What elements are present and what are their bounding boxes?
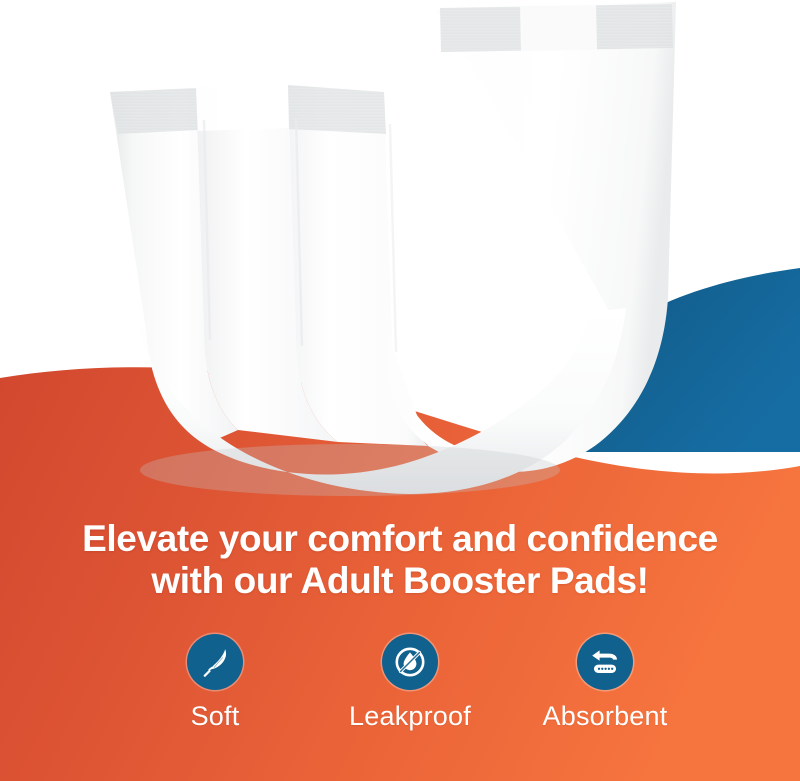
feature-leakproof-label: Leakproof [349, 703, 471, 730]
adhesive-strip-1 [110, 88, 198, 134]
adhesive-strip-3 [288, 85, 386, 134]
headline: Elevate your comfort and confidence with… [0, 518, 800, 602]
no-water-droplet-icon [392, 644, 428, 680]
feature-absorbent-badge [577, 634, 633, 690]
product-marketing-image: Elevate your comfort and confidence with… [0, 0, 800, 781]
headline-line-1: Elevate your comfort and confidence [0, 518, 800, 560]
feature-absorbent: Absorbent [520, 634, 690, 730]
feature-leakproof: Leakproof [325, 634, 495, 730]
feature-absorbent-label: Absorbent [543, 703, 668, 730]
adhesive-strip-4-highlight [520, 5, 597, 51]
feature-soft-label: Soft [191, 703, 240, 730]
absorbency-arrow-pad-icon [587, 644, 623, 680]
feature-soft: Soft [130, 634, 300, 730]
feather-icon [198, 645, 232, 679]
adhesive-strip-2 [196, 85, 289, 131]
feature-soft-badge [187, 634, 243, 690]
product-contact-shadow [140, 444, 560, 496]
headline-line-2: with our Adult Booster Pads! [0, 560, 800, 602]
feature-leakproof-badge [382, 634, 438, 690]
feature-list: Soft Leakproof [130, 634, 690, 730]
product-photo [0, 0, 800, 530]
